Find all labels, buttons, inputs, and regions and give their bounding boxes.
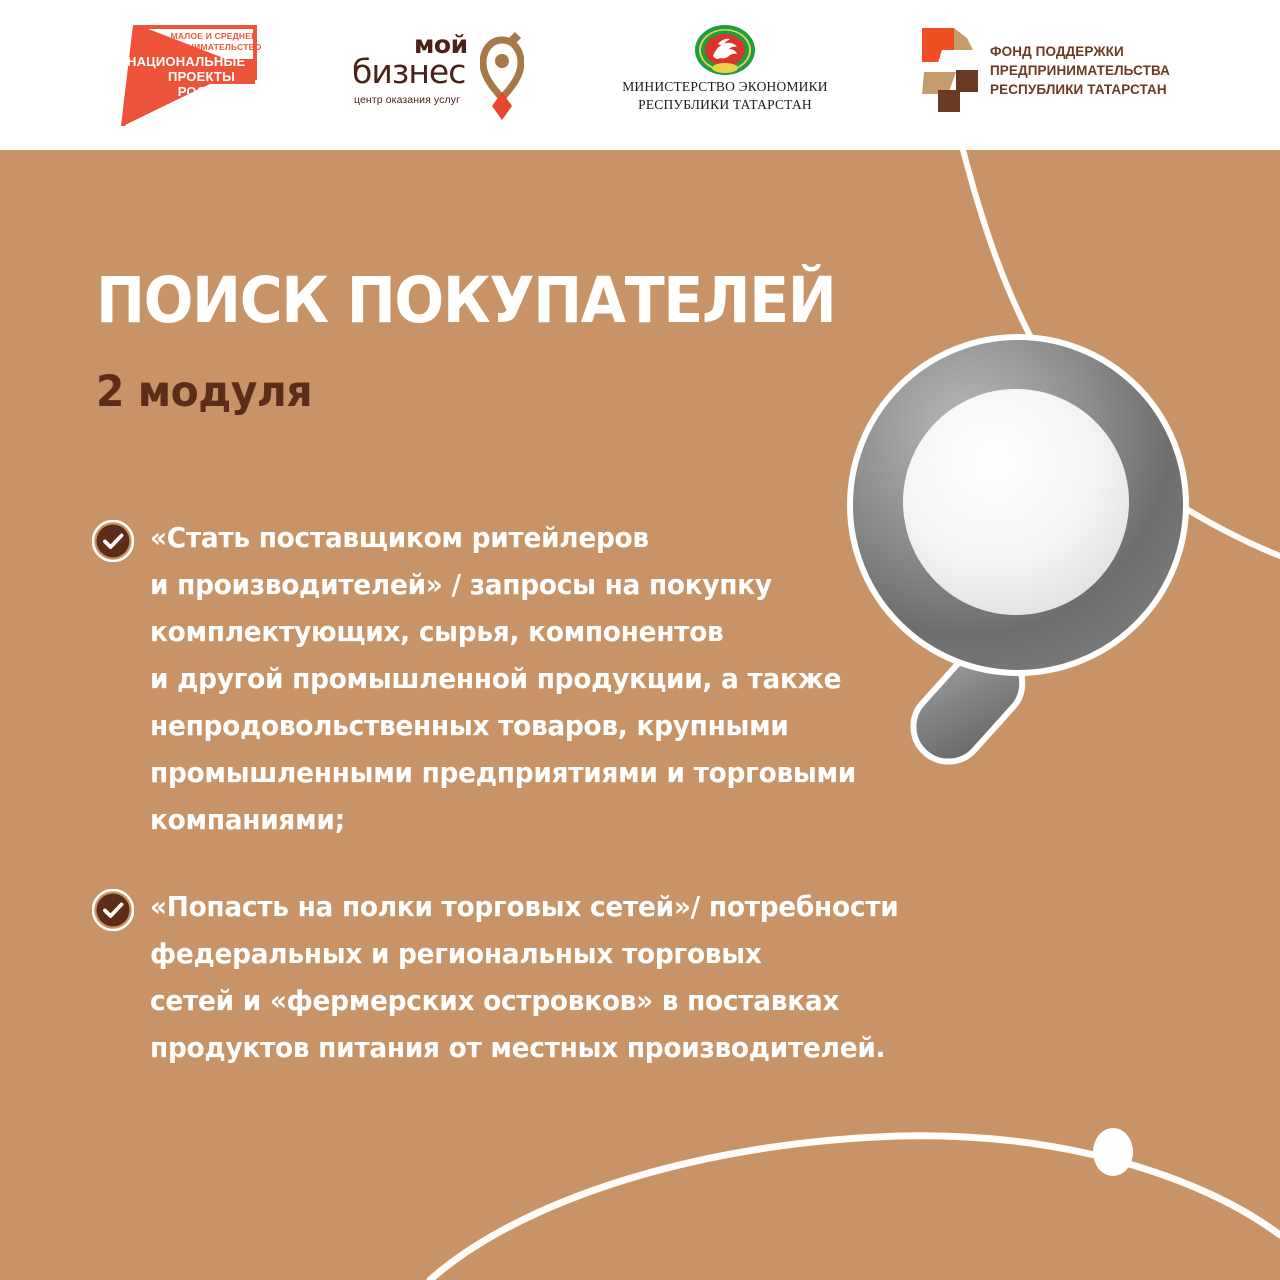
fund-cube-icon (922, 28, 982, 112)
check-circle-icon (92, 889, 134, 931)
logo-fund-line1: ФОНД ПОДДЕРЖКИ (990, 42, 1170, 61)
page-title: ПОИСК ПОКУПАТЕЛЕЙ (96, 266, 835, 336)
list-item: «Стать поставщиком ритейлеров и производ… (92, 515, 1092, 844)
tatarstan-emblem-icon (693, 24, 757, 76)
logo-ministry-line1: МИНИСТЕРСТВО ЭКОНОМИКИ (600, 78, 850, 96)
list-item-text: «Попасть на полки торговых сетей»/ потре… (150, 884, 1054, 1072)
slide-content: ПОИСК ПОКУПАТЕЛЕЙ 2 модуля «Стать постав… (0, 0, 1280, 1280)
logo-support-fund: ФОНД ПОДДЕРЖКИ ПРЕДПРИНИМАТЕЛЬСТВА РЕСПУ… (922, 28, 1192, 118)
logo-ministry-line2: РЕСПУБЛИКИ ТАТАРСТАН (600, 96, 850, 114)
check-circle-icon (92, 520, 134, 562)
logo-ministry-of-economy: МИНИСТЕРСТВО ЭКОНОМИКИ РЕСПУБЛИКИ ТАТАРС… (600, 24, 850, 124)
bullet-list: «Стать поставщиком ритейлеров и производ… (92, 515, 1092, 1112)
logo-np-top-text: МАЛОЕ И СРЕДНЕЕ ПРЕДПРИНИМАТЕЛЬСТВО (145, 31, 257, 53)
logo-fund-line3: РЕСПУБЛИКИ ТАТАРСТАН (990, 80, 1170, 99)
slide-root: МАЛОЕ И СРЕДНЕЕ ПРЕДПРИНИМАТЕЛЬСТВО НАЦИ… (0, 0, 1280, 1280)
location-pin-icon (480, 32, 524, 120)
logo-fund-line2: ПРЕДПРИНИМАТЕЛЬСТВА (990, 61, 1170, 80)
page-subtitle: 2 модуля (96, 366, 312, 418)
logo-fund-text: ФОНД ПОДДЕРЖКИ ПРЕДПРИНИМАТЕЛЬСТВА РЕСПУ… (990, 42, 1170, 99)
logo-ministry-text: МИНИСТЕРСТВО ЭКОНОМИКИ РЕСПУБЛИКИ ТАТАРС… (600, 78, 850, 114)
header-logo-bar: МАЛОЕ И СРЕДНЕЕ ПРЕДПРИНИМАТЕЛЬСТВО НАЦИ… (0, 0, 1280, 150)
logo-np-main-text: НАЦИОНАЛЬНЫЕ ПРОЕКТЫ РОССИИ (127, 54, 235, 99)
list-item-text: «Стать поставщиком ритейлеров и производ… (150, 515, 1054, 844)
list-item: «Попасть на полки торговых сетей»/ потре… (92, 884, 1092, 1072)
logo-national-projects-russia: МАЛОЕ И СРЕДНЕЕ ПРЕДПРИНИМАТЕЛЬСТВО НАЦИ… (105, 22, 260, 132)
logo-mb-word-main: бизнес (352, 52, 465, 91)
logo-mb-tagline: центр оказания услуг (354, 94, 460, 106)
logo-moy-biznes: мой бизнес центр оказания услуг (352, 30, 517, 122)
